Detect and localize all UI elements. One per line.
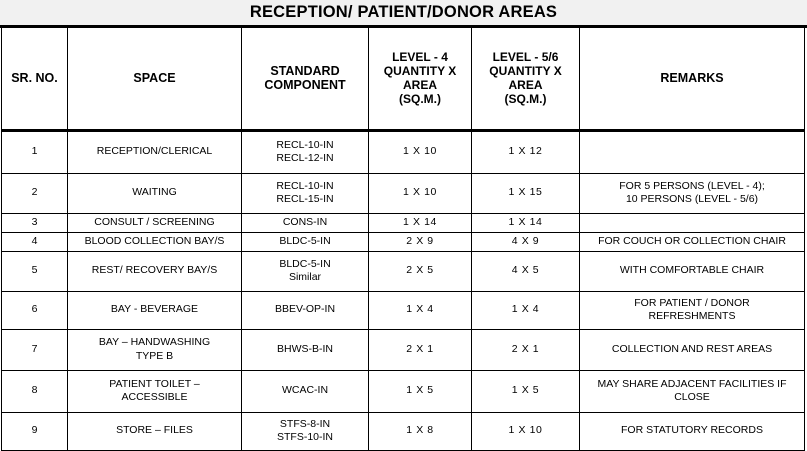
column-header-level-5-6-line4: (SQ.M.) — [474, 92, 577, 106]
cell-level-4-quantity: 1 X 10 — [369, 130, 472, 173]
cell-remarks-line2: CLOSE — [583, 391, 801, 404]
cell-space-line1: PATIENT TOILET – — [71, 378, 238, 391]
cell-sr-no: 4 — [2, 232, 68, 251]
cell-level-4-quantity: 2 X 1 — [369, 329, 472, 370]
cell-space: REST/ RECOVERY BAY/S — [68, 251, 242, 291]
cell-level-4-quantity: 1 X 5 — [369, 370, 472, 412]
cell-space: WAITING — [68, 173, 242, 213]
column-header-standard-component: STANDARD COMPONENT — [242, 28, 369, 130]
cell-standard-component: RECL-10-IN RECL-15-IN — [242, 173, 369, 213]
cell-sr-no: 7 — [2, 329, 68, 370]
cell-remarks-line2: REFRESHMENTS — [583, 310, 801, 323]
cell-level-4-quantity: 2 X 5 — [369, 251, 472, 291]
table-title-banner: RECEPTION/ PATIENT/DONOR AREAS — [0, 0, 807, 28]
cell-space-line2: ACCESSIBLE — [71, 391, 238, 404]
cell-standard-component: RECL-10-IN RECL-12-IN — [242, 130, 369, 173]
column-header-standard-component-line1: STANDARD — [244, 64, 366, 79]
cell-level-5-6-quantity: 1 X 10 — [472, 412, 580, 450]
cell-space: BAY – HANDWASHING TYPE B — [68, 329, 242, 370]
cell-remarks-line2: 10 PERSONS (LEVEL - 5/6) — [583, 193, 801, 206]
column-header-space: SPACE — [68, 28, 242, 130]
table-row: 2 WAITING RECL-10-IN RECL-15-IN 1 X 10 1… — [2, 173, 805, 213]
column-header-level-4-line3: AREA — [371, 78, 469, 92]
cell-level-4-quantity: 1 X 10 — [369, 173, 472, 213]
cell-remarks — [580, 130, 805, 173]
table-row: 4 BLOOD COLLECTION BAY/S BLDC-5-IN 2 X 9… — [2, 232, 805, 251]
cell-level-5-6-quantity: 1 X 15 — [472, 173, 580, 213]
cell-remarks: WITH COMFORTABLE CHAIR — [580, 251, 805, 291]
cell-sr-no: 8 — [2, 370, 68, 412]
cell-level-5-6-quantity: 1 X 14 — [472, 213, 580, 232]
column-header-level-5-6: LEVEL - 5/6 QUANTITY X AREA (SQ.M.) — [472, 28, 580, 130]
column-header-level-5-6-line2: QUANTITY X — [474, 64, 577, 78]
cell-sr-no: 6 — [2, 291, 68, 329]
cell-level-4-quantity: 2 X 9 — [369, 232, 472, 251]
cell-space: PATIENT TOILET – ACCESSIBLE — [68, 370, 242, 412]
cell-space: RECEPTION/CLERICAL — [68, 130, 242, 173]
cell-standard-component-line1: STFS-8-IN — [245, 418, 365, 431]
cell-remarks: FOR PATIENT / DONOR REFRESHMENTS — [580, 291, 805, 329]
cell-level-5-6-quantity: 4 X 9 — [472, 232, 580, 251]
cell-standard-component-line1: BLDC-5-IN — [245, 258, 365, 271]
spreadsheet-sheet: RECEPTION/ PATIENT/DONOR AREAS SR. NO. S… — [0, 0, 807, 450]
cell-remarks-line1: MAY SHARE ADJACENT FACILITIES IF — [583, 378, 801, 391]
requirements-table: SR. NO. SPACE STANDARD COMPONENT LEVEL -… — [1, 28, 805, 451]
cell-level-5-6-quantity: 2 X 1 — [472, 329, 580, 370]
cell-remarks-line1: FOR PATIENT / DONOR — [583, 297, 801, 310]
cell-remarks: COLLECTION AND REST AREAS — [580, 329, 805, 370]
column-header-level-4-line1: LEVEL - 4 — [371, 50, 469, 64]
table-row: 8 PATIENT TOILET – ACCESSIBLE WCAC-IN 1 … — [2, 370, 805, 412]
table-row: 9 STORE – FILES STFS-8-IN STFS-10-IN 1 X… — [2, 412, 805, 450]
cell-sr-no: 5 — [2, 251, 68, 291]
cell-standard-component: BHWS-B-IN — [242, 329, 369, 370]
column-header-sr-no: SR. NO. — [2, 28, 68, 130]
table-row: 3 CONSULT / SCREENING CONS-IN 1 X 14 1 X… — [2, 213, 805, 232]
cell-remarks — [580, 213, 805, 232]
cell-standard-component-line2: Similar — [245, 271, 365, 284]
cell-space: BLOOD COLLECTION BAY/S — [68, 232, 242, 251]
column-header-level-5-6-line3: AREA — [474, 78, 577, 92]
cell-sr-no: 1 — [2, 130, 68, 173]
column-header-level-5-6-line1: LEVEL - 5/6 — [474, 50, 577, 64]
table-header-row: SR. NO. SPACE STANDARD COMPONENT LEVEL -… — [2, 28, 805, 130]
page-title: RECEPTION/ PATIENT/DONOR AREAS — [250, 4, 557, 21]
cell-space-line2: TYPE B — [71, 350, 238, 363]
table-row: 1 RECEPTION/CLERICAL RECL-10-IN RECL-12-… — [2, 130, 805, 173]
cell-standard-component: BBEV-OP-IN — [242, 291, 369, 329]
cell-standard-component: CONS-IN — [242, 213, 369, 232]
cell-sr-no: 2 — [2, 173, 68, 213]
column-header-remarks: REMARKS — [580, 28, 805, 130]
cell-standard-component-line2: STFS-10-IN — [245, 431, 365, 444]
column-header-standard-component-line2: COMPONENT — [244, 78, 366, 93]
cell-level-5-6-quantity: 4 X 5 — [472, 251, 580, 291]
cell-sr-no: 3 — [2, 213, 68, 232]
cell-remarks: FOR 5 PERSONS (LEVEL - 4); 10 PERSONS (L… — [580, 173, 805, 213]
table-row: 7 BAY – HANDWASHING TYPE B BHWS-B-IN 2 X… — [2, 329, 805, 370]
cell-level-4-quantity: 1 X 8 — [369, 412, 472, 450]
column-header-level-4: LEVEL - 4 QUANTITY X AREA (SQ.M.) — [369, 28, 472, 130]
cell-remarks: FOR COUCH OR COLLECTION CHAIR — [580, 232, 805, 251]
cell-remarks: MAY SHARE ADJACENT FACILITIES IF CLOSE — [580, 370, 805, 412]
cell-level-4-quantity: 1 X 14 — [369, 213, 472, 232]
cell-standard-component-line1: RECL-10-IN — [245, 180, 365, 193]
cell-remarks-line1: FOR 5 PERSONS (LEVEL - 4); — [583, 180, 801, 193]
cell-standard-component: BLDC-5-IN Similar — [242, 251, 369, 291]
table-row: 5 REST/ RECOVERY BAY/S BLDC-5-IN Similar… — [2, 251, 805, 291]
cell-space: STORE – FILES — [68, 412, 242, 450]
column-header-level-4-line4: (SQ.M.) — [371, 92, 469, 106]
cell-space: BAY - BEVERAGE — [68, 291, 242, 329]
cell-level-5-6-quantity: 1 X 5 — [472, 370, 580, 412]
cell-standard-component-line2: RECL-12-IN — [245, 152, 365, 165]
cell-space-line1: BAY – HANDWASHING — [71, 336, 238, 349]
cell-level-4-quantity: 1 X 4 — [369, 291, 472, 329]
cell-remarks: FOR STATUTORY RECORDS — [580, 412, 805, 450]
cell-standard-component: BLDC-5-IN — [242, 232, 369, 251]
cell-standard-component: STFS-8-IN STFS-10-IN — [242, 412, 369, 450]
cell-standard-component: WCAC-IN — [242, 370, 369, 412]
column-header-level-4-line2: QUANTITY X — [371, 64, 469, 78]
cell-level-5-6-quantity: 1 X 4 — [472, 291, 580, 329]
cell-standard-component-line1: RECL-10-IN — [245, 139, 365, 152]
table-row: 6 BAY - BEVERAGE BBEV-OP-IN 1 X 4 1 X 4 … — [2, 291, 805, 329]
cell-space: CONSULT / SCREENING — [68, 213, 242, 232]
cell-sr-no: 9 — [2, 412, 68, 450]
cell-standard-component-line2: RECL-15-IN — [245, 193, 365, 206]
cell-level-5-6-quantity: 1 X 12 — [472, 130, 580, 173]
